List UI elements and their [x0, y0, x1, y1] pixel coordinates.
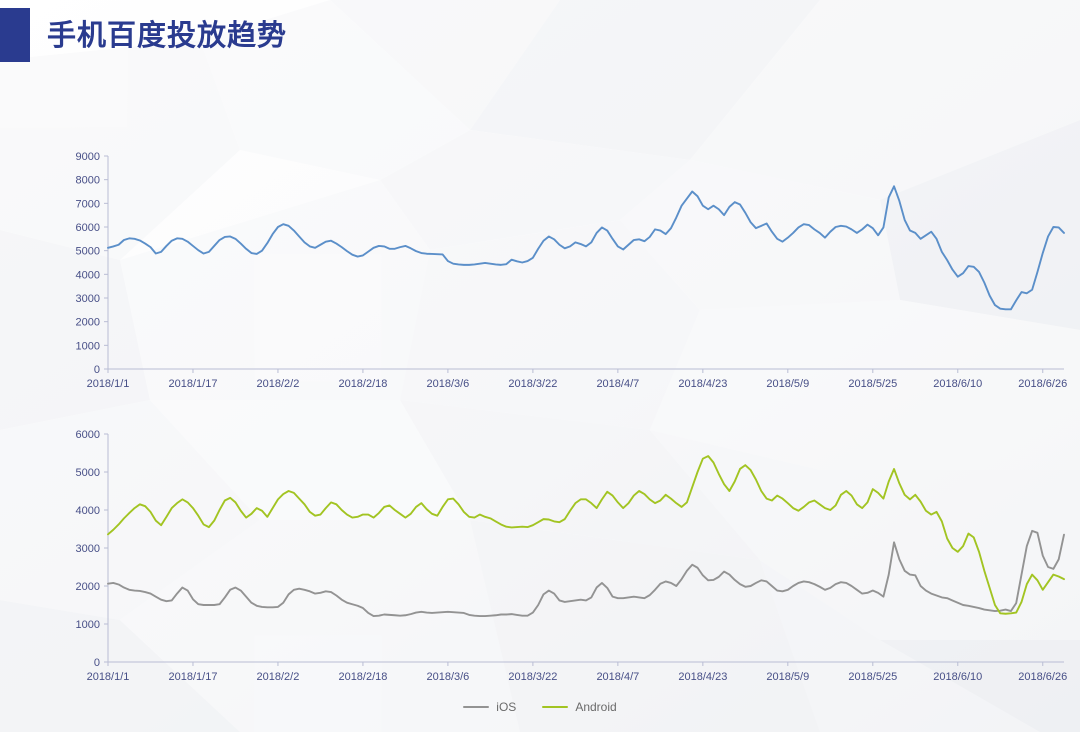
y-axis-tick-label: 1000 [76, 340, 100, 352]
x-axis-tick-label: 2018/5/25 [848, 671, 897, 683]
x-axis-tick-label: 2018/4/23 [678, 378, 727, 390]
series-line-手机百度 [108, 186, 1064, 309]
x-axis-tick-label: 2018/2/2 [257, 378, 300, 390]
series-line-android [108, 456, 1064, 614]
x-axis-tick-label: 2018/6/10 [933, 378, 982, 390]
line-chart-os-split: 01000200030004000500060002018/1/12018/1/… [60, 428, 1070, 688]
x-axis-tick-label: 2018/4/7 [596, 671, 639, 683]
chart-legend: iOS Android [0, 700, 1080, 714]
line-chart-total: 0100020003000400050006000700080009000201… [60, 150, 1070, 395]
y-axis-tick-label: 4000 [76, 269, 100, 281]
y-axis-tick-label: 3000 [76, 543, 100, 555]
y-axis-tick-label: 0 [94, 657, 100, 669]
page-title: 手机百度投放趋势 [47, 21, 287, 50]
x-axis-tick-label: 2018/5/9 [766, 671, 809, 683]
y-axis-tick-label: 5000 [76, 246, 100, 258]
legend-item-android[interactable]: Android [542, 700, 616, 714]
y-axis-tick-label: 7000 [76, 198, 100, 210]
x-axis-tick-label: 2018/3/22 [508, 378, 557, 390]
legend-item-ios[interactable]: iOS [463, 700, 516, 714]
x-axis-tick-label: 2018/2/18 [338, 671, 387, 683]
y-axis-tick-label: 2000 [76, 317, 100, 329]
title-accent-square [0, 8, 30, 62]
x-axis-tick-label: 2018/6/26 [1018, 378, 1067, 390]
chart-baidu-total-trend: 0100020003000400050006000700080009000201… [60, 150, 1070, 395]
y-axis-tick-label: 9000 [76, 151, 100, 163]
legend-label-ios: iOS [496, 700, 516, 714]
chart-baidu-os-split-trend: 01000200030004000500060002018/1/12018/1/… [60, 428, 1070, 688]
x-axis-tick-label: 2018/6/10 [933, 671, 982, 683]
y-axis-tick-label: 3000 [76, 293, 100, 305]
page-header: 手机百度投放趋势 [0, 8, 287, 62]
x-axis-tick-label: 2018/5/25 [848, 378, 897, 390]
series-line-ios [108, 531, 1064, 616]
y-axis-tick-label: 4000 [76, 505, 100, 517]
x-axis-tick-label: 2018/2/2 [257, 671, 300, 683]
line-swatch-icon [463, 706, 489, 709]
x-axis-tick-label: 2018/4/23 [678, 671, 727, 683]
x-axis-tick-label: 2018/1/17 [169, 671, 218, 683]
y-axis-tick-label: 5000 [76, 467, 100, 479]
y-axis-tick-label: 2000 [76, 581, 100, 593]
line-swatch-icon [542, 706, 568, 709]
y-axis-tick-label: 0 [94, 364, 100, 376]
x-axis-tick-label: 2018/1/1 [87, 378, 130, 390]
y-axis-tick-label: 1000 [76, 619, 100, 631]
y-axis-tick-label: 8000 [76, 175, 100, 187]
x-axis-tick-label: 2018/3/6 [426, 378, 469, 390]
legend-label-android: Android [575, 700, 616, 714]
x-axis-tick-label: 2018/6/26 [1018, 671, 1067, 683]
x-axis-tick-label: 2018/1/1 [87, 671, 130, 683]
x-axis-tick-label: 2018/3/6 [426, 671, 469, 683]
x-axis-tick-label: 2018/2/18 [338, 378, 387, 390]
x-axis-tick-label: 2018/3/22 [508, 671, 557, 683]
y-axis-tick-label: 6000 [76, 429, 100, 441]
x-axis-tick-label: 2018/5/9 [766, 378, 809, 390]
x-axis-tick-label: 2018/4/7 [596, 378, 639, 390]
x-axis-tick-label: 2018/1/17 [169, 378, 218, 390]
y-axis-tick-label: 6000 [76, 222, 100, 234]
